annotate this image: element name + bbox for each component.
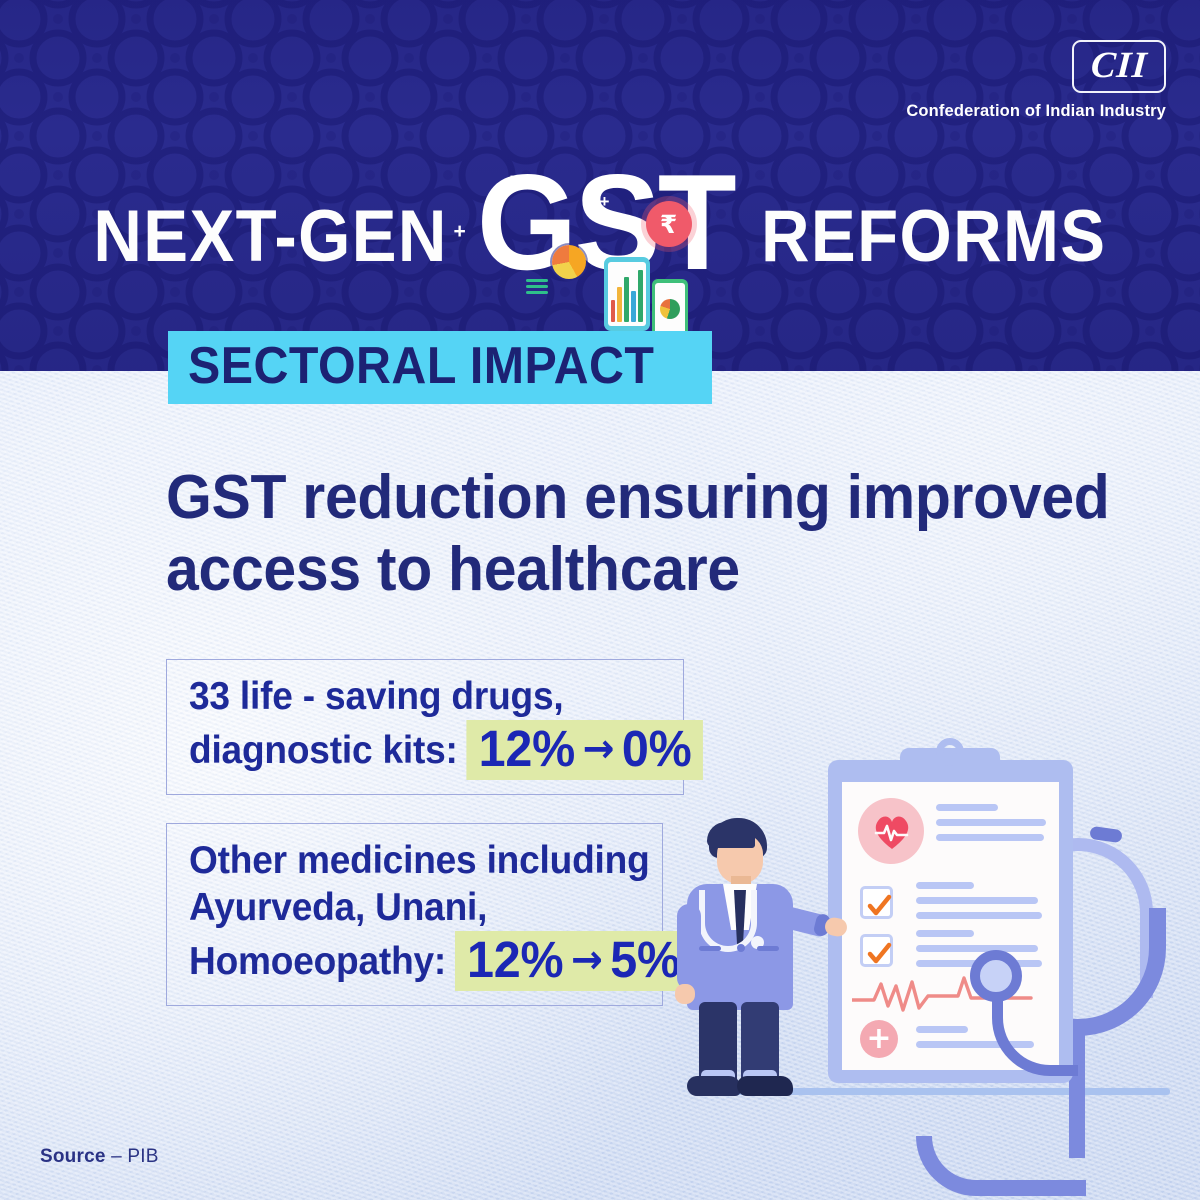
document-list-icon (526, 279, 548, 294)
headline-line-2: access to healthcare (166, 534, 1021, 606)
doctor-hand-left (675, 984, 695, 1004)
stat-card-life-saving-drugs: 33 life - saving drugs, diagnostic kits:… (166, 659, 684, 795)
pie-chart-icon (552, 245, 586, 279)
sparkle-icon: + (506, 171, 518, 192)
cii-tagline: Confederation of Indian Industry (906, 102, 1166, 121)
stat-line: Other medicines including (189, 837, 623, 884)
title-next-gen: NEXT-GEN (94, 200, 448, 273)
doctor-hair-fringe (707, 822, 755, 848)
clipboard-ring (936, 738, 964, 766)
sparkle-icon: + (600, 191, 610, 212)
arrow-right-icon: → (583, 729, 615, 769)
clipboard-text-lines (916, 882, 1042, 927)
doctor-coat-button (737, 944, 745, 952)
stethoscope-chestpiece-icon (970, 950, 1080, 1082)
doctor-figure (677, 818, 827, 1094)
checkmark-icon (860, 886, 893, 919)
cii-logo: CII Confederation of Indian Industry (906, 40, 1166, 121)
title-reforms: REFORMS (761, 200, 1106, 273)
stat-label: Homoeopathy: (189, 938, 446, 985)
stat-line: 33 life - saving drugs, (189, 673, 643, 720)
cii-logo-mark: CII (1072, 40, 1166, 93)
stat-label: diagnostic kits: (189, 727, 458, 774)
rupee-refresh-icon: ₹ (646, 201, 692, 247)
stat-line: Ayurveda, Unani, (189, 884, 623, 931)
poster-title: NEXT-GEN GST + + + (0, 176, 1200, 296)
checkmark-icon (860, 934, 893, 967)
source-value: PIB (127, 1146, 158, 1167)
doctor-pocket-right (757, 946, 779, 951)
source-label: Source (40, 1146, 106, 1167)
source-footer: Source – PIB (40, 1146, 159, 1168)
rate-from: 12% (479, 721, 575, 777)
title-gst-group: GST + + + (470, 181, 741, 291)
sectoral-impact-banner: SECTORAL IMPACT (168, 331, 712, 404)
tablet-bar-chart-icon (604, 257, 650, 331)
doctor-shoe-left (687, 1076, 741, 1096)
rate-from: 12% (467, 932, 563, 988)
doctor-shoe-right (737, 1076, 793, 1096)
cii-logo-text: CII (1089, 47, 1148, 85)
heart-rate-icon (872, 812, 912, 852)
stethoscope-chestpiece (970, 950, 1022, 1002)
clipboard-text-lines (936, 804, 1046, 849)
infographic-poster: CII Confederation of Indian Industry NEX… (0, 0, 1200, 1200)
doctor-stethoscope (699, 890, 757, 952)
stat-line-with-rate: diagnostic kits: 12% → 0% (189, 720, 643, 780)
doctor-arm-left (677, 904, 701, 990)
phone-screen (655, 283, 685, 335)
sparkle-icon: + (454, 221, 466, 242)
doctor-pocket-left (699, 946, 721, 951)
mobile-donut-chart-icon (652, 279, 688, 339)
doctor-clipboard-stethoscope-illustration: + (665, 700, 1200, 1120)
stat-card-other-medicines: Other medicines including Ayurveda, Unan… (166, 823, 663, 1006)
sectoral-impact-label: SECTORAL IMPACT (188, 340, 654, 392)
status-badge-rate-change: 12% → 5% (455, 931, 692, 991)
tablet-screen (608, 262, 646, 326)
headline-line-1: GST reduction ensuring improved (166, 462, 1021, 534)
arrow-right-icon: → (571, 940, 603, 980)
stat-line-with-rate: Homoeopathy: 12% → 5% (189, 931, 623, 991)
page-title: GST reduction ensuring improved access t… (166, 462, 1021, 606)
source-separator: – (111, 1146, 122, 1167)
medical-clipboard: + (828, 738, 1073, 1083)
medical-cross-icon: + (860, 1020, 898, 1058)
stethoscope-chestpiece-tube (992, 996, 1078, 1076)
